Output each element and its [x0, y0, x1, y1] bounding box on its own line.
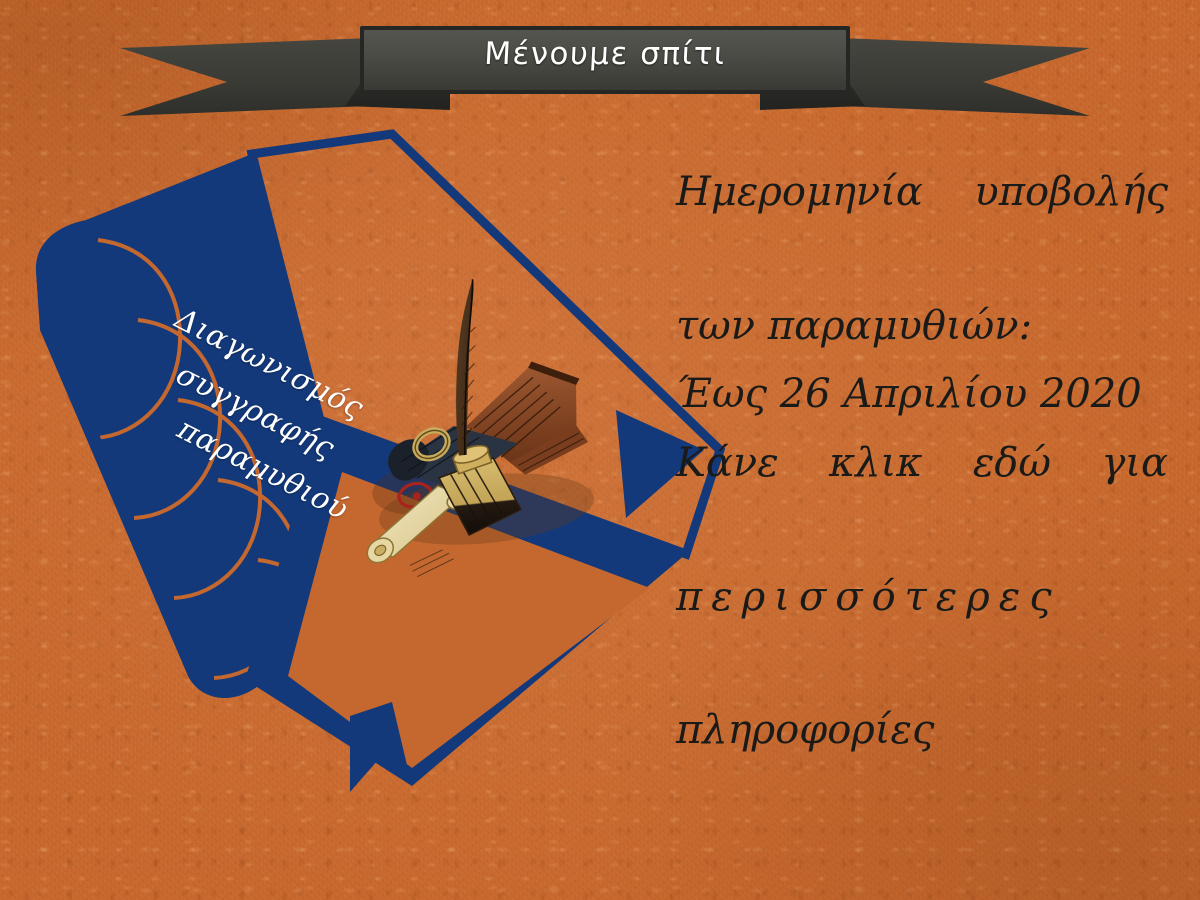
info-line-3: Έως 26 Απριλίου 2020: [676, 362, 1168, 427]
cta-line-2[interactable]: περισσότερες: [676, 565, 1168, 695]
ribbon-banner: Μένουμε σπίτι: [120, 18, 1090, 118]
right-text-column: Ημερομηνία υποβολής των παραμυθιών: Έως …: [676, 160, 1168, 767]
banner-title: Μένουμε σπίτι: [118, 18, 1092, 90]
slide-canvas: Μένουμε σπίτι: [0, 0, 1200, 900]
cta-line-3[interactable]: πληροφορίες: [676, 698, 1168, 763]
more-info-link[interactable]: Κάνε κλικ εδώ για περισσότερες πληροφορί…: [676, 431, 1168, 763]
quill-inkwell-scroll-engraving: [323, 265, 623, 592]
info-line-1: Ημερομηνία υποβολής: [676, 160, 1168, 290]
engraving-caption-marks: [409, 549, 455, 577]
info-line-2: των παραμυθιών:: [676, 294, 1168, 359]
engraving-artwork: [323, 265, 623, 592]
cta-line-1[interactable]: Κάνε κλικ εδώ για: [676, 431, 1168, 561]
submission-info: Ημερομηνία υποβολής των παραμυθιών: Έως …: [676, 160, 1168, 427]
